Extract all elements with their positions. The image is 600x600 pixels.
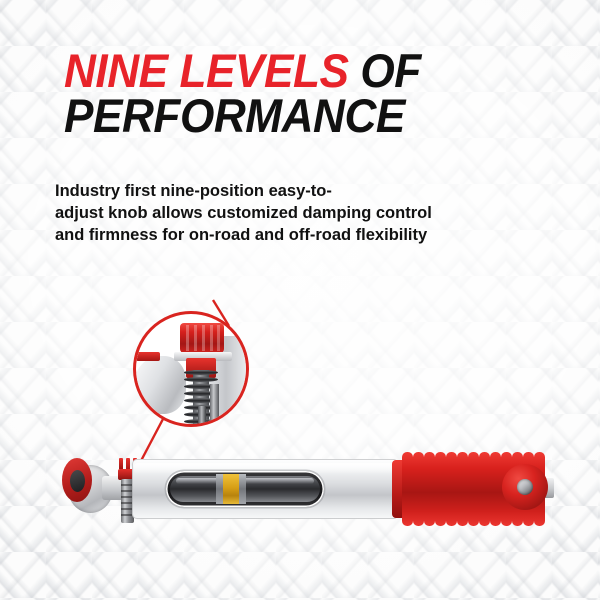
boot-ridge bbox=[446, 452, 457, 526]
knob-groove-icon bbox=[217, 325, 220, 351]
knob-groove-icon bbox=[210, 325, 213, 351]
knob-fin-icon bbox=[119, 458, 123, 469]
piston-collar-right bbox=[239, 474, 246, 504]
boot-ridge bbox=[468, 452, 479, 526]
boot-ridge bbox=[435, 452, 446, 526]
left-bushing-hole bbox=[70, 470, 85, 492]
boot-ridge bbox=[479, 452, 490, 526]
headline-performance: PERFORMANCE bbox=[64, 94, 421, 137]
spring-coil bbox=[184, 370, 218, 375]
knob-groove-icon bbox=[202, 325, 205, 351]
boot-ridge bbox=[413, 452, 424, 526]
knob-groove-icon bbox=[186, 325, 189, 351]
marketing-graphic-canvas: NINE LEVELS OF PERFORMANCE Industry firs… bbox=[0, 0, 600, 600]
boot-ridge bbox=[490, 452, 501, 526]
detail-callout-circle bbox=[133, 311, 249, 427]
piston-collar-left bbox=[216, 474, 223, 504]
piston-band bbox=[223, 474, 239, 504]
product-shock-absorber bbox=[62, 448, 540, 530]
cutaway-window bbox=[166, 471, 324, 507]
boot-ridge bbox=[457, 452, 468, 526]
detail-inner-rod-secondary bbox=[210, 384, 219, 424]
detail-bushing-bulb bbox=[136, 356, 186, 414]
body-copy: Industry first nine-position easy-to- ad… bbox=[55, 181, 505, 247]
spring-coil bbox=[184, 377, 218, 382]
boot-ridge bbox=[402, 452, 413, 526]
headline-line-1: NINE LEVELS OF bbox=[64, 49, 421, 92]
page-title: NINE LEVELS OF PERFORMANCE bbox=[64, 49, 444, 137]
detail-adjuster-knob bbox=[180, 323, 224, 353]
boot-ridge bbox=[424, 452, 435, 526]
detail-inner-rod bbox=[198, 406, 206, 424]
right-eyelet-bushing bbox=[517, 479, 533, 495]
detail-red-tab bbox=[136, 352, 160, 361]
knob-groove-icon bbox=[194, 325, 197, 351]
detail-callout-content bbox=[136, 314, 246, 424]
